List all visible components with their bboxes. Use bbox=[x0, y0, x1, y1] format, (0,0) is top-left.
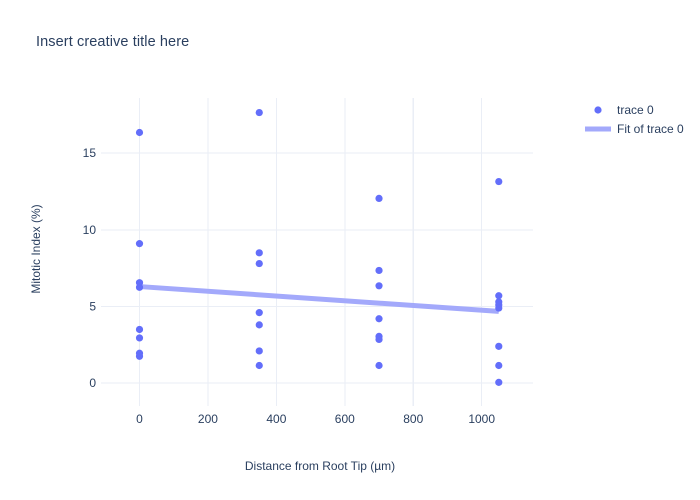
fit-line[interactable] bbox=[140, 287, 499, 312]
legend-item-label[interactable]: trace 0 bbox=[617, 103, 654, 117]
data-point[interactable] bbox=[256, 260, 263, 267]
data-point[interactable] bbox=[495, 292, 502, 299]
y-tick-label: 15 bbox=[83, 146, 97, 160]
data-point[interactable] bbox=[375, 362, 382, 369]
data-point[interactable] bbox=[136, 353, 143, 360]
scatter-points[interactable] bbox=[136, 109, 502, 386]
x-tick-label: 1000 bbox=[468, 412, 495, 426]
data-point[interactable] bbox=[256, 109, 263, 116]
chart-figure: Insert creative title here 0200400600800… bbox=[0, 0, 700, 500]
data-point[interactable] bbox=[375, 315, 382, 322]
tickmarks bbox=[101, 153, 482, 406]
data-point[interactable] bbox=[136, 334, 143, 341]
data-point[interactable] bbox=[256, 249, 263, 256]
gridlines bbox=[107, 98, 533, 400]
plot-area[interactable]: 02004006008001000051015 Distance from Ro… bbox=[0, 0, 700, 500]
y-axis-title: Mitotic Index (%) bbox=[29, 204, 43, 293]
y-tick-label: 0 bbox=[89, 376, 96, 390]
data-point[interactable] bbox=[136, 240, 143, 247]
data-point[interactable] bbox=[495, 304, 502, 311]
x-tick-label: 800 bbox=[403, 412, 423, 426]
fit-line-path[interactable] bbox=[140, 287, 499, 312]
data-point[interactable] bbox=[256, 347, 263, 354]
data-point[interactable] bbox=[495, 343, 502, 350]
data-point[interactable] bbox=[375, 267, 382, 274]
x-tick-label: 400 bbox=[266, 412, 286, 426]
data-point[interactable] bbox=[136, 129, 143, 136]
legend-item-label[interactable]: Fit of trace 0 bbox=[617, 122, 684, 136]
data-point[interactable] bbox=[136, 284, 143, 291]
y-tick-label: 10 bbox=[83, 223, 97, 237]
legend[interactable]: trace 0Fit of trace 0 bbox=[585, 103, 684, 136]
data-point[interactable] bbox=[256, 309, 263, 316]
y-tick-label: 5 bbox=[89, 299, 96, 313]
data-point[interactable] bbox=[256, 362, 263, 369]
data-point[interactable] bbox=[375, 336, 382, 343]
data-point[interactable] bbox=[256, 321, 263, 328]
x-axis-title: Distance from Root Tip (µm) bbox=[245, 459, 395, 473]
data-point[interactable] bbox=[375, 282, 382, 289]
x-tick-label: 0 bbox=[136, 412, 143, 426]
data-point[interactable] bbox=[495, 379, 502, 386]
legend-marker-dot-icon bbox=[594, 106, 601, 113]
data-point[interactable] bbox=[495, 362, 502, 369]
data-point[interactable] bbox=[495, 178, 502, 185]
x-tick-label: 600 bbox=[335, 412, 355, 426]
x-tick-label: 200 bbox=[198, 412, 218, 426]
data-point[interactable] bbox=[375, 195, 382, 202]
data-point[interactable] bbox=[136, 326, 143, 333]
